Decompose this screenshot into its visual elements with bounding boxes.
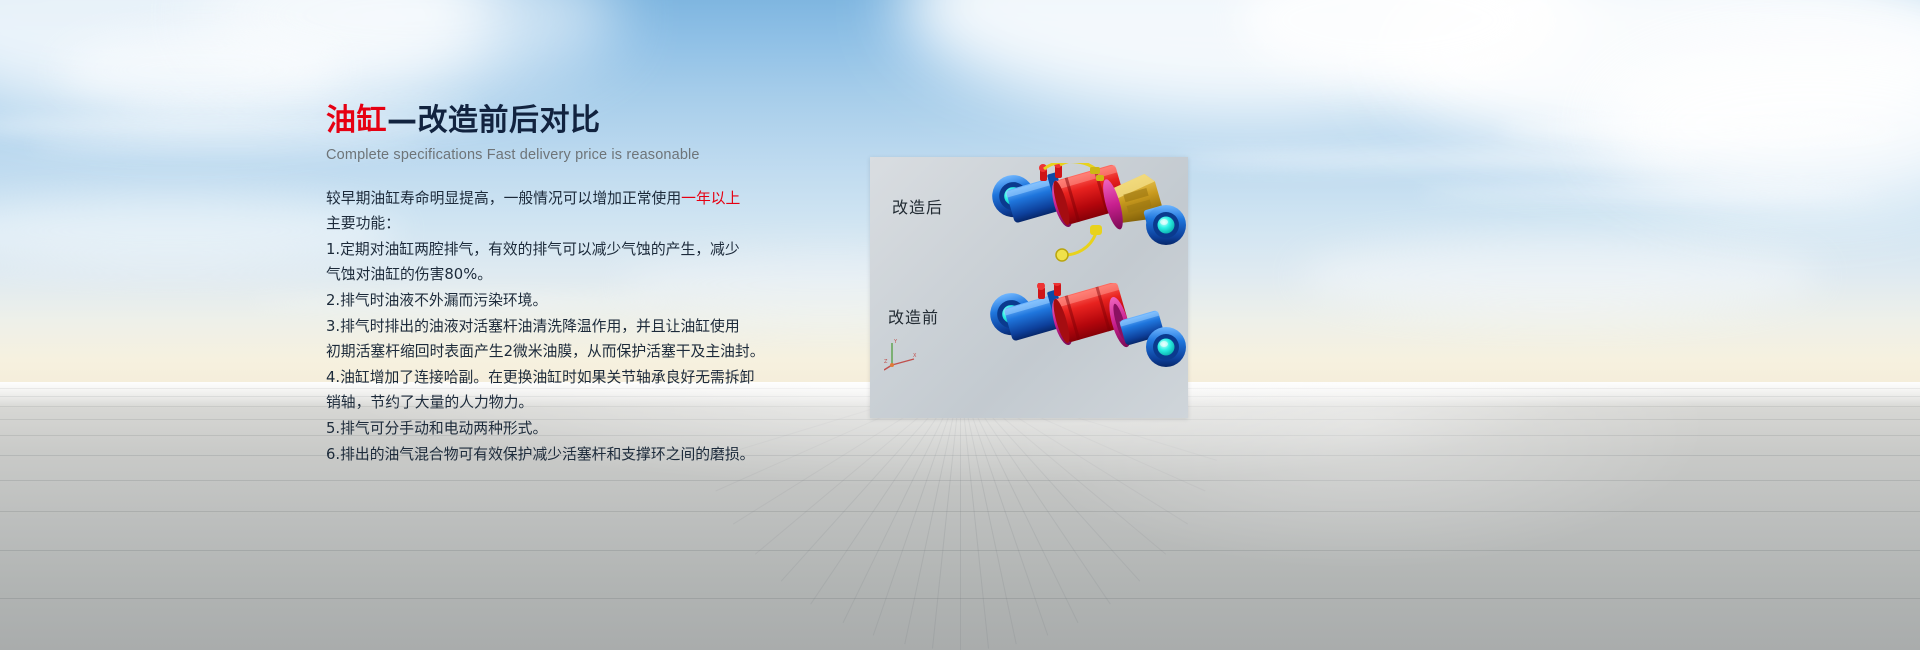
comparison-image-panel: 改造后 改造前 [870,157,1188,418]
feature-line: 1.定期对油缸两腔排气，有效的排气可以减少气蚀的产生，减少 [326,237,846,263]
cylinder-before-illustration [978,283,1188,401]
section-label: 主要功能： [326,211,846,237]
content-block: 油缸—改造前后对比 Complete specifications Fast d… [326,104,846,467]
body-copy: 较早期油缸寿命明显提高，一般情况可以增加正常使用一年以上 主要功能： 1.定期对… [326,186,846,468]
page-title-rest: —改造前后对比 [387,103,601,138]
label-before-modification: 改造前 [888,304,939,328]
feature-line: 3.排气时排出的油液对活塞杆油清洗降温作用，并且让油缸使用 [326,314,846,340]
intro-line: 较早期油缸寿命明显提高，一般情况可以增加正常使用一年以上 [326,186,846,212]
coordinate-axis-icon: Y X Z [884,337,918,371]
intro-highlight: 一年以上 [681,190,740,207]
drain-plug [1056,249,1068,261]
cylinder-after-illustration [978,163,1188,281]
feature-line: 5.排气可分手动和电动两种形式。 [326,416,846,442]
drain-cap [1090,225,1102,235]
page-subtitle: Complete specifications Fast delivery pr… [326,147,846,163]
rod-eye-right [1146,205,1186,245]
rod-eye-right [1146,327,1186,367]
axis-label-y: Y [893,339,898,345]
feature-line: 销轴，节约了大量的人力物力。 [326,390,846,416]
axis-label-x: X [913,353,917,359]
page-title-highlight: 油缸 [326,103,387,138]
intro-text: 较早期油缸寿命明显提高，一般情况可以增加正常使用 [326,190,681,207]
feature-line: 气蚀对油缸的伤害80%。 [326,262,846,288]
feature-line: 4.油缸增加了连接哈副。在更换油缸时如果关节轴承良好无需拆卸 [326,365,846,391]
page-title: 油缸—改造前后对比 [326,104,846,138]
drain-hose [1064,233,1096,255]
feature-line: 初期活塞杆缩回时表面产生2微米油膜，从而保护活塞干及主油封。 [326,339,846,365]
axis-label-z: Z [884,359,888,365]
feature-line: 6.排出的油气混合物可有效保护减少活塞杆和支撑环之间的磨损。 [326,442,846,468]
pavement-ground [0,382,1920,650]
label-after-modification: 改造后 [892,194,943,218]
hero-banner: 油缸—改造前后对比 Complete specifications Fast d… [0,0,1920,650]
feature-line: 2.排气时油液不外漏而污染环境。 [326,288,846,314]
